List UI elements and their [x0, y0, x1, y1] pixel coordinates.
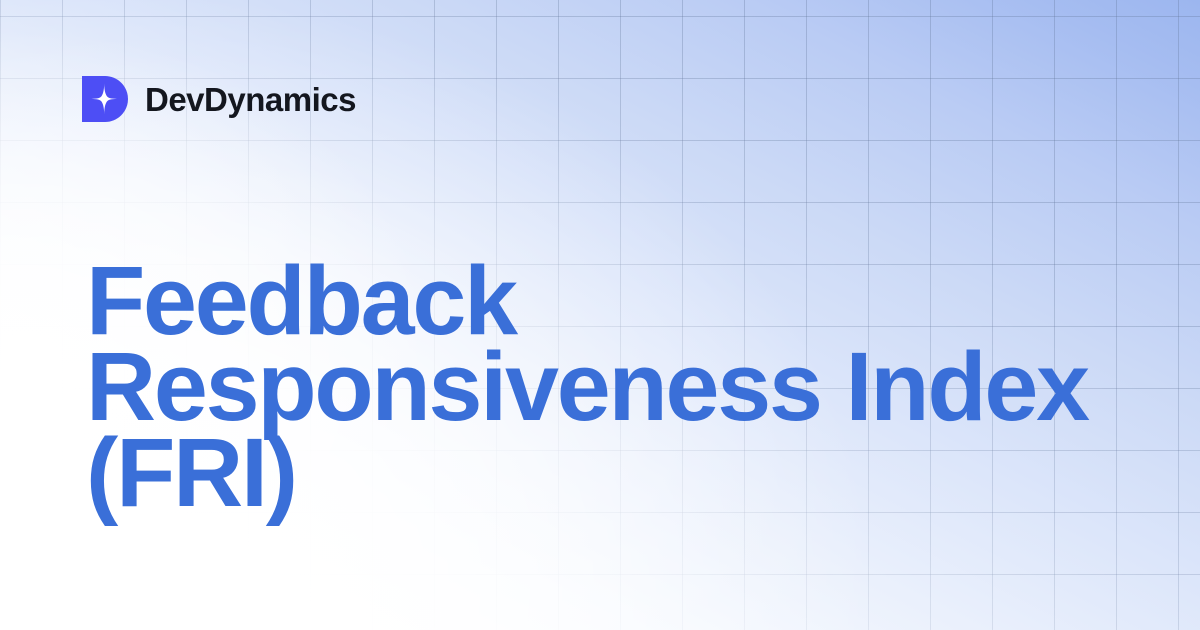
page-title-line-3: (FRI)	[86, 430, 1126, 516]
og-card-canvas: DevDynamics Feedback Responsiveness Inde…	[0, 0, 1200, 630]
card-content: DevDynamics Feedback Responsiveness Inde…	[0, 0, 1200, 630]
brand-lockup: DevDynamics	[82, 76, 356, 122]
devdynamics-logo-icon	[82, 76, 128, 122]
page-title: Feedback Responsiveness Index (FRI)	[86, 258, 1126, 516]
brand-name: DevDynamics	[145, 83, 356, 116]
